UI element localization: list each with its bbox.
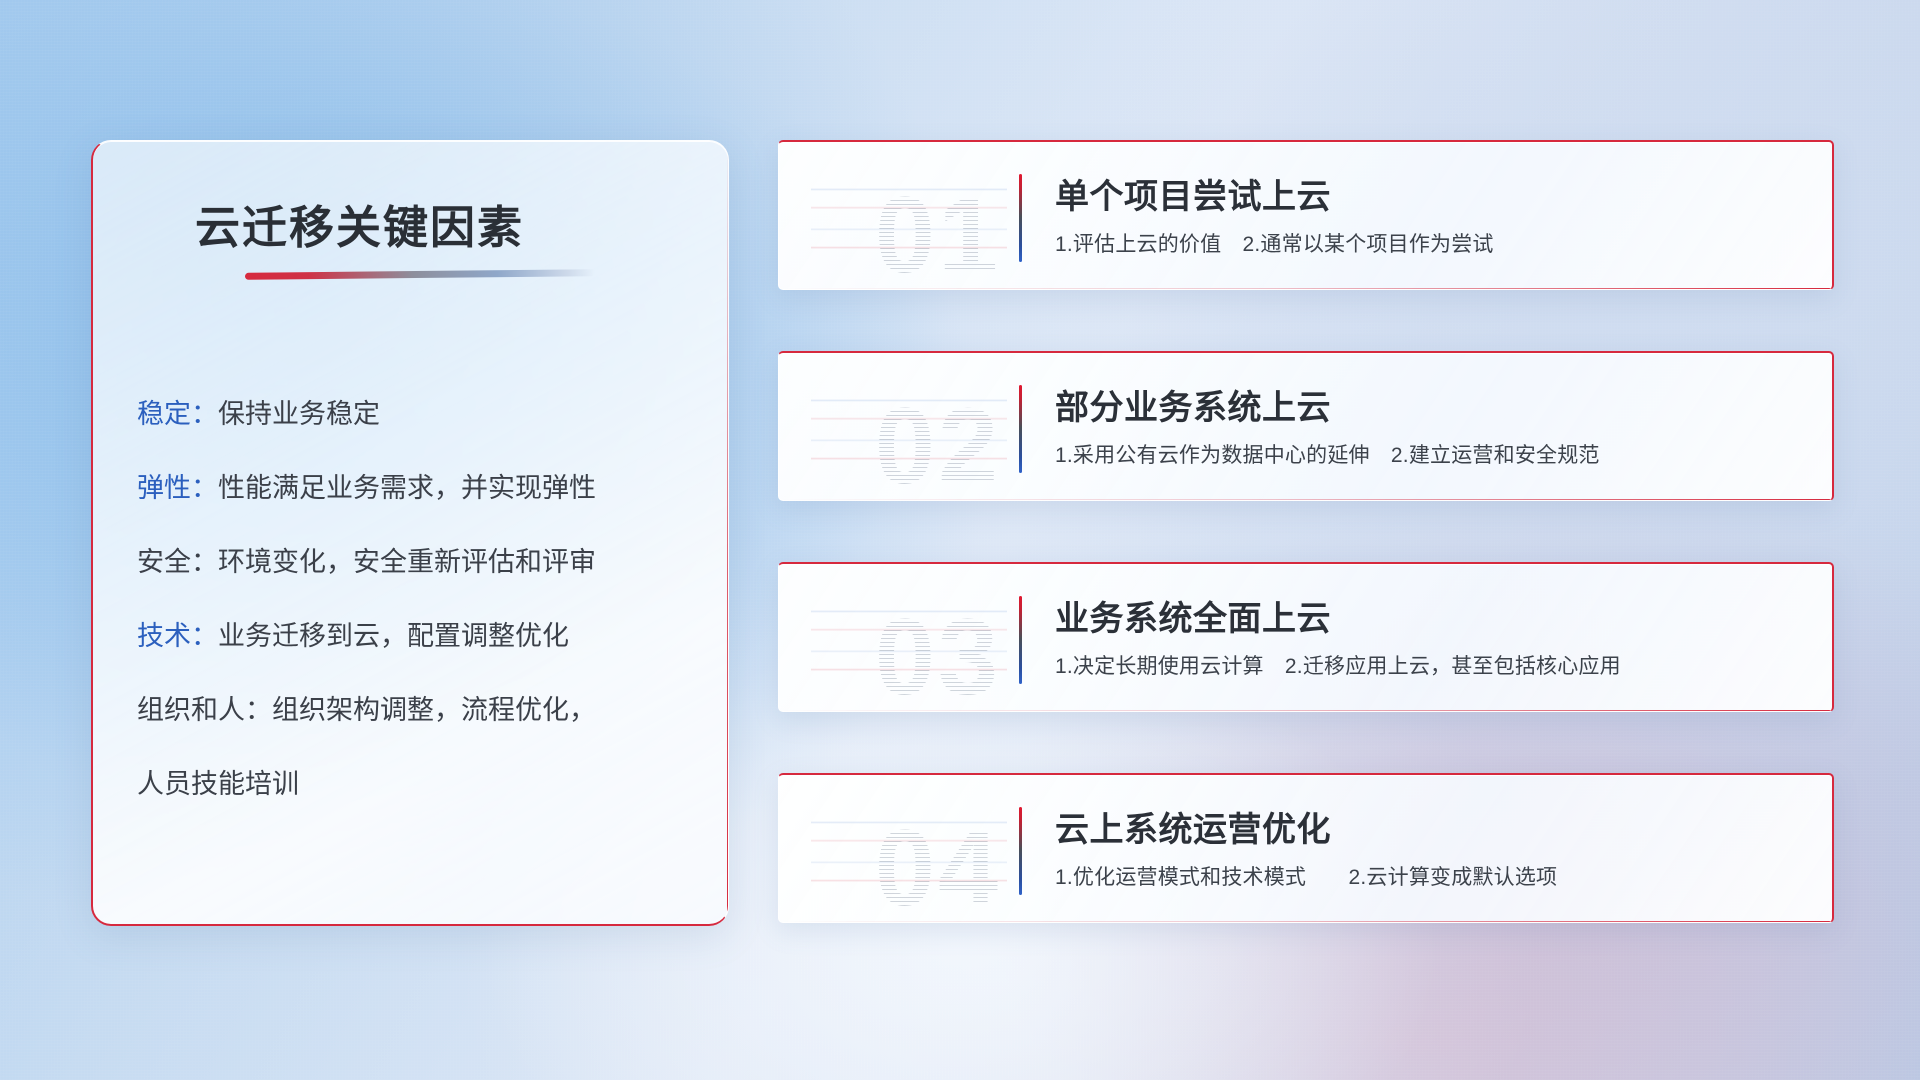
card-accent-divider — [1019, 807, 1022, 895]
card-accent-divider — [1019, 596, 1022, 684]
list-item-key: 稳定： — [137, 399, 218, 429]
stage-card-04[interactable]: 04 云上系统运营优化 1.优化运营模式和技术模式 2.云计算变成默认选项 — [778, 773, 1834, 923]
list-item: 技术：业务迁移到云，配置调整优化 — [137, 599, 702, 673]
list-item-value: 人员技能培训 — [137, 769, 299, 799]
card-accent-divider — [1019, 385, 1022, 473]
list-item: 稳定：保持业务稳定 — [137, 377, 702, 451]
list-item-continuation: 人员技能培训 — [137, 747, 702, 821]
list-item-value: 保持业务稳定 — [218, 399, 380, 429]
stage-number-glyph: 03 — [843, 603, 1033, 711]
stage-number-01: 01 — [811, 160, 1007, 274]
stage-card-02[interactable]: 02 部分业务系统上云 1.采用公有云作为数据中心的延伸 2.建立运营和安全规范 — [778, 351, 1834, 501]
page-title: 云迁移关键因素 — [195, 191, 524, 256]
stage-number-glyph: 01 — [843, 181, 1033, 289]
card-title: 业务系统全面上云 — [1055, 591, 1331, 640]
slide-stage: 云迁移关键因素 稳定：保持业务稳定 弹性：性能满足业务需求，并实现弹性 安全：环… — [0, 0, 1920, 1080]
key-factors-panel: 云迁移关键因素 稳定：保持业务稳定 弹性：性能满足业务需求，并实现弹性 安全：环… — [91, 140, 729, 926]
list-item-key: 技术： — [137, 621, 218, 651]
list-item-value: 性能满足业务需求，并实现弹性 — [218, 473, 596, 503]
stage-number-glyph: 04 — [843, 814, 1033, 922]
card-title: 单个项目尝试上云 — [1055, 169, 1331, 218]
key-factors-list: 稳定：保持业务稳定 弹性：性能满足业务需求，并实现弹性 安全：环境变化，安全重新… — [137, 377, 702, 821]
card-description: 1.决定长期使用云计算 2.迁移应用上云，甚至包括核心应用 — [1055, 650, 1621, 680]
stage-number-glyph: 02 — [843, 392, 1033, 500]
list-item-key: 组织和人： — [137, 695, 272, 725]
list-item-value: 环境变化，安全重新评估和评审 — [218, 547, 596, 577]
list-item-key: 弹性： — [137, 473, 218, 503]
card-description: 1.优化运营模式和技术模式 2.云计算变成默认选项 — [1055, 861, 1557, 891]
card-title: 云上系统运营优化 — [1055, 802, 1331, 851]
list-item: 安全：环境变化，安全重新评估和评审 — [137, 525, 702, 599]
card-description: 1.评估上云的价值 2.通常以某个项目作为尝试 — [1055, 228, 1494, 258]
stage-card-01[interactable]: 01 单个项目尝试上云 1.评估上云的价值 2.通常以某个项目作为尝试 — [778, 140, 1834, 290]
stage-card-03[interactable]: 03 业务系统全面上云 1.决定长期使用云计算 2.迁移应用上云，甚至包括核心应… — [778, 562, 1834, 712]
list-item: 弹性：性能满足业务需求，并实现弹性 — [137, 451, 702, 525]
title-underline-rule — [245, 269, 595, 280]
card-description: 1.采用公有云作为数据中心的延伸 2.建立运营和安全规范 — [1055, 439, 1600, 469]
card-title: 部分业务系统上云 — [1055, 380, 1331, 429]
list-item: 组织和人：组织架构调整，流程优化， — [137, 673, 702, 747]
list-item-value: 组织架构调整，流程优化， — [272, 695, 596, 725]
stage-number-03: 03 — [811, 582, 1007, 696]
list-item-key: 安全： — [137, 547, 218, 577]
stage-number-04: 04 — [811, 793, 1007, 907]
stage-number-02: 02 — [811, 371, 1007, 485]
list-item-value: 业务迁移到云，配置调整优化 — [218, 621, 569, 651]
card-accent-divider — [1019, 174, 1022, 262]
